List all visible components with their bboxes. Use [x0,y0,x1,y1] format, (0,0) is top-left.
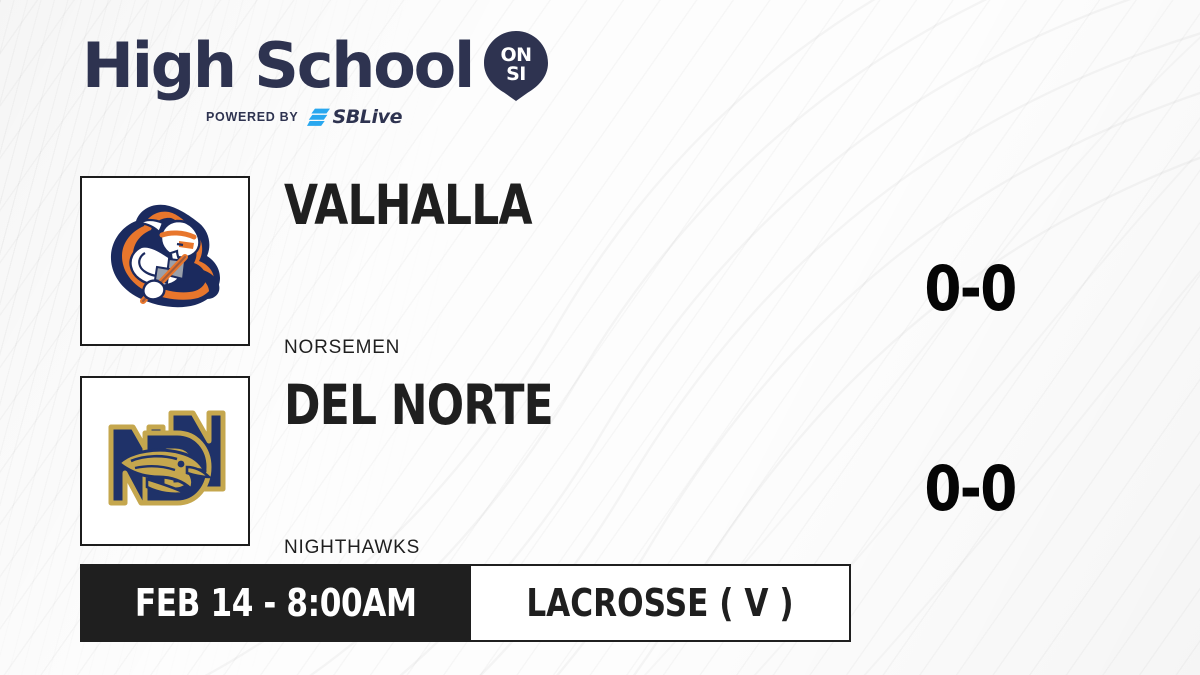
brand-row: High School ON SI [82,32,512,100]
away-team-name: VALHALLA [284,178,532,233]
game-datetime-text: FEB 14 - 8:00AM [135,584,417,622]
away-team-logo-box [80,176,250,346]
home-team-logo-box [80,376,250,546]
matchup-card: High School ON SI POWERED BY SBLive [0,0,1200,675]
brand-header: High School ON SI POWERED BY SBLive [82,32,512,126]
powered-by-label: POWERED BY [206,110,298,124]
game-sport-text: LACROSSE ( V ) [527,584,794,622]
sblive-wordmark-lower: ive [372,106,403,128]
sblive-wordmark-upper: SBL [332,106,371,128]
home-team-record: 0-0 [901,458,1039,520]
valhalla-viking-logo-icon [99,195,231,327]
game-sport-badge: LACROSSE ( V ) [471,564,851,642]
sblive-logo: SBLive [307,108,402,127]
sblive-chevron-icon [307,108,330,127]
game-info-bar: FEB 14 - 8:00AM LACROSSE ( V ) [80,564,851,642]
game-datetime-badge: FEB 14 - 8:00AM [80,564,471,642]
brand-wordmark: High School [82,35,473,97]
home-team-name: DEL NORTE [284,378,553,433]
on-si-pin-icon: ON SI [482,32,550,100]
away-team-record: 0-0 [901,258,1039,320]
pin-line-2: SI [506,63,526,85]
powered-by-row: POWERED BY SBLive [206,108,512,126]
home-team-mascot: NIGHTHAWKS [284,538,420,557]
away-team-mascot: NORSEMEN [284,338,400,357]
del-norte-dn-eagle-logo-icon [101,397,229,525]
sblive-wordmark: SBLive [332,108,402,127]
